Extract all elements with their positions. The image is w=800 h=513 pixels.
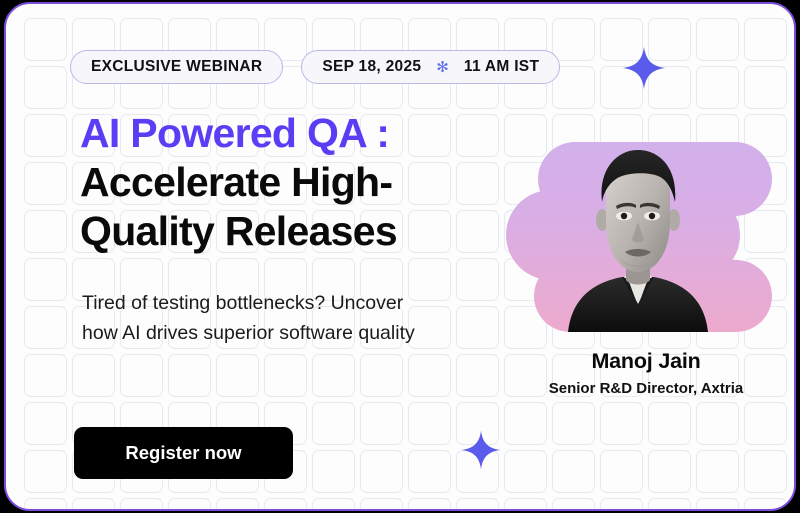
grid-cell [696, 402, 739, 445]
grid-cell [312, 498, 355, 511]
grid-cell [24, 306, 67, 349]
grid-cell [168, 354, 211, 397]
grid-cell [456, 498, 499, 511]
badge-schedule: SEP 18, 2025 ✻ 11 AM IST [301, 50, 560, 84]
headline-main-line: Accelerate High-Quality Releases [80, 158, 500, 256]
grid-cell [312, 354, 355, 397]
subheading-text: Tired of testing bottlenecks? Uncover ho… [82, 289, 432, 348]
grid-cell [552, 450, 595, 493]
grid-cell [744, 450, 787, 493]
grid-cell [24, 162, 67, 205]
grid-cell [24, 114, 67, 157]
grid-cell [408, 498, 451, 511]
grid-cell [264, 498, 307, 511]
grid-cell [312, 450, 355, 493]
speaker-name: Manoj Jain [506, 349, 786, 374]
grid-cell [552, 402, 595, 445]
grid-cell [552, 498, 595, 511]
webinar-promo-card: EXCLUSIVE WEBINAR SEP 18, 2025 ✻ 11 AM I… [4, 2, 796, 511]
sparkle-asterisk-icon: ✻ [436, 60, 449, 75]
badge-exclusive-webinar: EXCLUSIVE WEBINAR [70, 50, 283, 84]
grid-cell [696, 450, 739, 493]
grid-cell [72, 498, 115, 511]
grid-cell [168, 498, 211, 511]
badge-exclusive-label: EXCLUSIVE WEBINAR [91, 58, 262, 76]
grid-cell [744, 498, 787, 511]
grid-cell [360, 498, 403, 511]
badge-date-label: SEP 18, 2025 [322, 58, 421, 76]
grid-cell [360, 450, 403, 493]
grid-cell [456, 306, 499, 349]
grid-cell [24, 354, 67, 397]
grid-cell [216, 498, 259, 511]
sparkle-bottom-center-icon [461, 430, 501, 470]
badge-time-label: 11 AM IST [464, 58, 539, 76]
grid-cell [216, 354, 259, 397]
grid-cell [72, 354, 115, 397]
grid-cell [408, 450, 451, 493]
grid-cell [24, 210, 67, 253]
grid-cell [504, 450, 547, 493]
grid-cell [24, 450, 67, 493]
grid-cell [504, 402, 547, 445]
grid-cell [696, 66, 739, 109]
sparkle-top-right-icon [622, 46, 666, 90]
grid-cell [456, 354, 499, 397]
grid-cell [696, 498, 739, 511]
speaker-role: Senior R&D Director, Axtria [526, 379, 766, 400]
speaker-portrait [562, 146, 714, 332]
grid-cell [408, 402, 451, 445]
grid-cell [744, 66, 787, 109]
grid-cell [360, 354, 403, 397]
grid-cell [504, 498, 547, 511]
grid-cell [744, 402, 787, 445]
badge-row: EXCLUSIVE WEBINAR SEP 18, 2025 ✻ 11 AM I… [70, 50, 560, 84]
grid-cell [360, 402, 403, 445]
grid-cell [24, 402, 67, 445]
grid-cell [312, 402, 355, 445]
grid-cell [24, 18, 67, 61]
grid-cell [648, 402, 691, 445]
grid-cell [408, 354, 451, 397]
page-title: AI Powered QA : Accelerate High-Quality … [80, 109, 500, 255]
grid-cell [648, 450, 691, 493]
grid-cell [696, 18, 739, 61]
grid-cell [24, 66, 67, 109]
grid-cell [264, 354, 307, 397]
grid-cell [600, 498, 643, 511]
grid-cell [120, 498, 163, 511]
grid-cell [120, 354, 163, 397]
grid-cell [648, 498, 691, 511]
grid-cell [24, 498, 67, 511]
grid-cell [600, 402, 643, 445]
register-now-button[interactable]: Register now [74, 427, 293, 479]
grid-cell [456, 258, 499, 301]
grid-cell [744, 18, 787, 61]
grid-cell [24, 258, 67, 301]
headline-accent-line: AI Powered QA : [80, 109, 500, 158]
grid-cell [600, 450, 643, 493]
